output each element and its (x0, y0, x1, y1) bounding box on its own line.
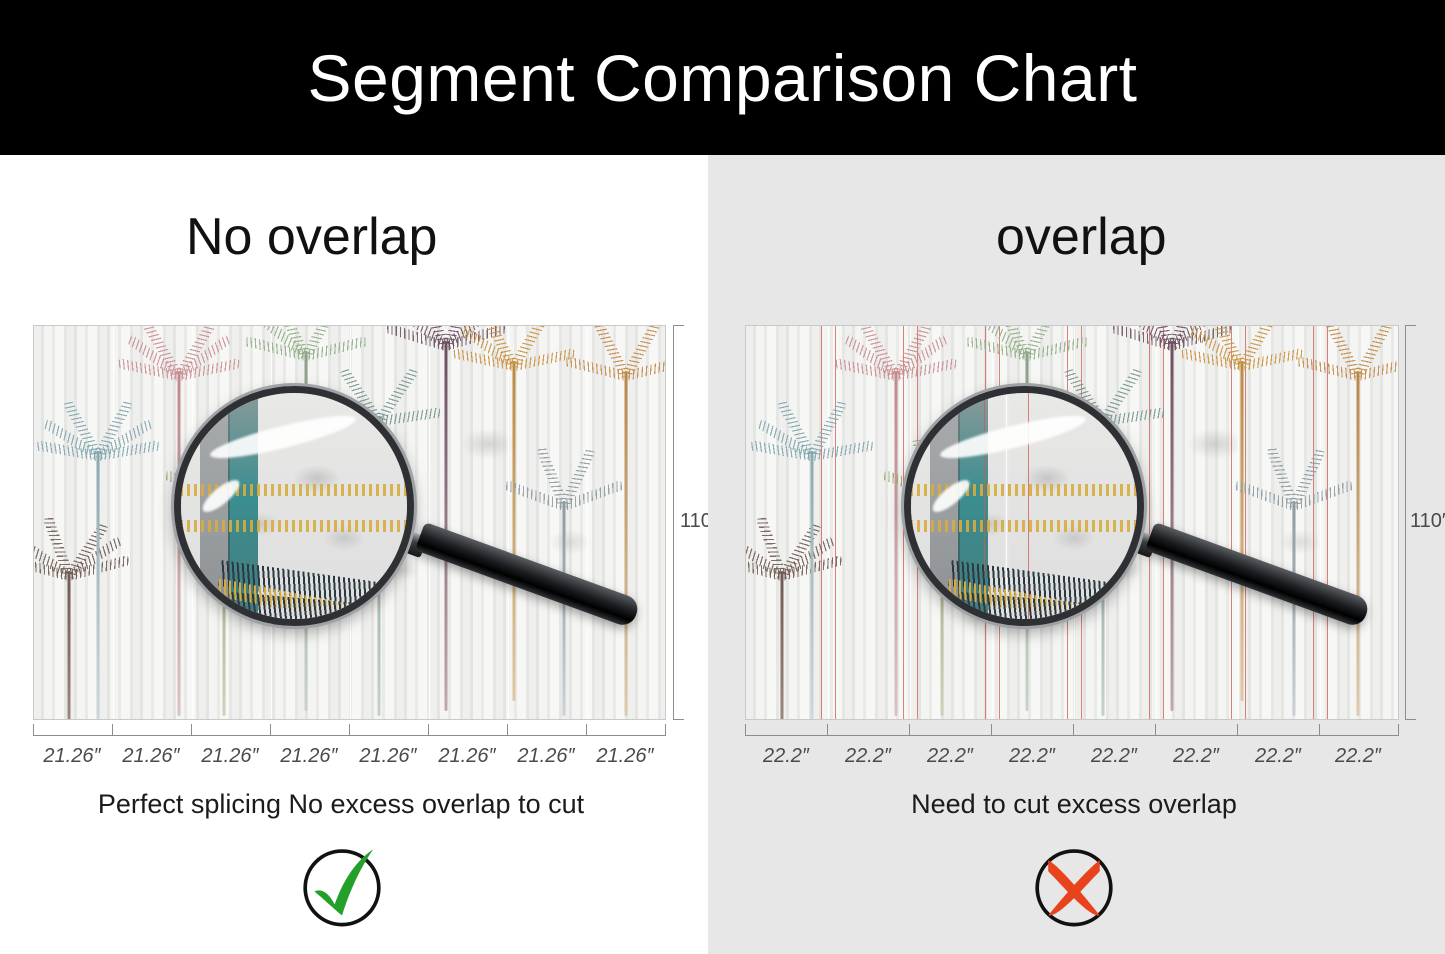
segment-label: 22.2″ (1255, 745, 1301, 768)
artwork-left (33, 325, 666, 720)
segment-label: 21.26″ (596, 745, 653, 768)
cross-mark-icon (1028, 840, 1120, 932)
segment-label: 22.2″ (845, 745, 891, 768)
caption-left: Perfect splicing No excess overlap to cu… (98, 789, 584, 820)
segment-label: 22.2″ (1173, 745, 1219, 768)
magnifying-glass-icon (174, 386, 644, 686)
segment-label: 21.26″ (280, 745, 337, 768)
magnifying-glass-icon (904, 386, 1374, 686)
overlap-line (821, 326, 822, 719)
check-mark-icon (296, 840, 388, 932)
panel-no-overlap: No overlap (0, 155, 708, 954)
segment-label: 22.2″ (763, 745, 809, 768)
segment-label: 21.26″ (201, 745, 258, 768)
panel-seam (828, 326, 829, 719)
segment-label: 21.26″ (122, 745, 179, 768)
mural-image-left (33, 325, 666, 720)
height-label-right: 110″ (1410, 510, 1445, 533)
height-dimension-right (1405, 325, 1406, 720)
page-title: Segment Comparison Chart (307, 45, 1137, 111)
panel-left-heading: No overlap (186, 207, 437, 267)
segment-label: 22.2″ (1091, 745, 1137, 768)
panel-seam (113, 326, 114, 719)
segment-label: 21.26″ (517, 745, 574, 768)
artwork-right (745, 325, 1399, 720)
segment-label: 22.2″ (1009, 745, 1055, 768)
caption-right: Need to cut excess overlap (911, 789, 1237, 820)
title-band: Segment Comparison Chart (0, 0, 1445, 155)
comparison-panels: No overlap (0, 155, 1445, 954)
segment-label: 22.2″ (927, 745, 973, 768)
width-dimension-left (33, 735, 666, 736)
mural-image-right (745, 325, 1399, 720)
segment-label: 22.2″ (1335, 745, 1381, 768)
panel-right-heading: overlap (996, 207, 1167, 267)
segment-label: 21.26″ (359, 745, 416, 768)
width-dimension-right (745, 735, 1399, 736)
overlap-line (835, 326, 836, 719)
segment-label: 21.26″ (43, 745, 100, 768)
panel-overlap: overlap (708, 155, 1445, 954)
height-dimension-left (673, 325, 674, 720)
segment-label: 21.26″ (438, 745, 495, 768)
